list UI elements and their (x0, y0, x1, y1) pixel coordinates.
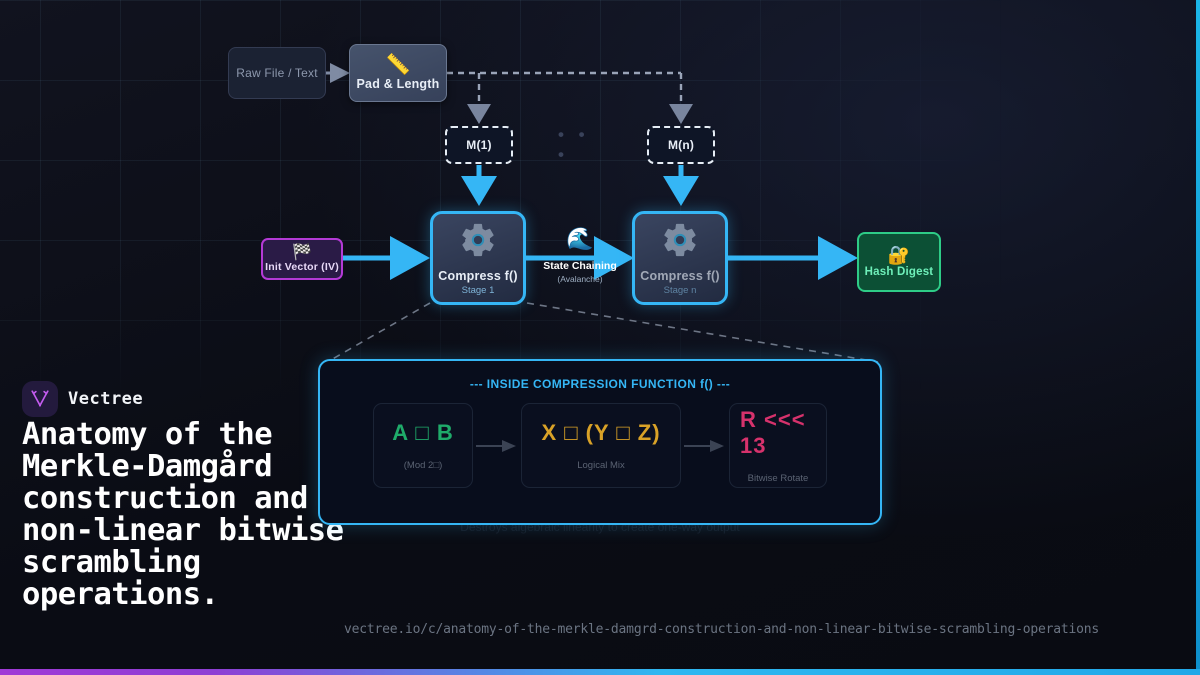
panel-title: --- INSIDE COMPRESSION FUNCTION f() --- (320, 377, 880, 391)
gear-icon (458, 220, 498, 265)
compress-stage-1-label: Compress f() (438, 269, 518, 283)
arrow-icon (681, 440, 729, 452)
compress-stage-n-label: Compress f() (640, 269, 720, 283)
node-message-block-last[interactable]: M(n) (647, 126, 715, 164)
state-chaining-label: State Chaining (543, 260, 617, 272)
wave-icon: 🌊 (566, 228, 593, 250)
node-compress-stage-1[interactable]: Compress f() Stage 1 (430, 211, 526, 305)
bottom-accent-bar (0, 669, 1200, 675)
operation-bitwise-rotate[interactable]: R <<< 13 Bitwise Rotate (729, 403, 827, 488)
page-title: Anatomy of the Merkle-Damgård constructi… (22, 419, 352, 611)
operation-caption: Logical Mix (577, 460, 625, 471)
node-raw-file[interactable]: Raw File / Text (228, 47, 326, 99)
message-blocks-ellipsis: • • • (558, 136, 604, 154)
compress-stage-1-sub: Stage 1 (462, 285, 495, 296)
node-init-vector[interactable]: 🏁 Init Vector (IV) (261, 238, 343, 280)
operation-modular-add[interactable]: A □ B (Mod 2□) (373, 403, 473, 488)
operation-formula: A □ B (392, 420, 453, 446)
page-url: vectree.io/c/anatomy-of-the-merkle-damgr… (344, 622, 1099, 637)
init-vector-label: Init Vector (IV) (265, 261, 339, 273)
brand-block: Vectree (22, 381, 143, 417)
hash-digest-label: Hash Digest (865, 266, 934, 278)
message-block-last-label: M(n) (668, 138, 694, 152)
compress-stage-n-sub: Stage n (664, 285, 697, 296)
raw-file-label: Raw File / Text (236, 66, 317, 80)
node-pad-and-length[interactable]: 📏 Pad & Length (349, 44, 447, 102)
node-hash-digest[interactable]: 🔐 Hash Digest (857, 232, 941, 292)
label-state-chaining: 🌊 State Chaining (Avalanche) (540, 228, 620, 284)
compression-function-panel: --- INSIDE COMPRESSION FUNCTION f() --- … (318, 359, 882, 525)
lock-with-key-icon: 🔐 (888, 246, 910, 264)
operation-formula: X □ (Y □ Z) (541, 420, 660, 446)
slide-canvas: Raw File / Text 📏 Pad & Length M(1) • • … (0, 0, 1200, 675)
node-message-block-first[interactable]: M(1) (445, 126, 513, 164)
arrow-icon (473, 440, 521, 452)
right-accent-edge (1196, 0, 1200, 675)
ruler-icon: 📏 (386, 55, 411, 75)
checkered-flag-icon: 🏁 (292, 245, 312, 261)
operation-caption: (Mod 2□) (404, 460, 442, 471)
node-compress-stage-n[interactable]: Compress f() Stage n (632, 211, 728, 305)
pad-length-label: Pad & Length (357, 77, 440, 91)
brand-name: Vectree (68, 389, 143, 409)
gear-icon (660, 220, 700, 265)
state-chaining-sub: (Avalanche) (557, 274, 602, 284)
message-block-first-label: M(1) (466, 138, 491, 152)
operation-caption: Bitwise Rotate (748, 473, 809, 484)
operation-formula: R <<< 13 (740, 407, 816, 459)
operations-row: A □ B (Mod 2□) X □ (Y □ Z) Logical Mix (320, 403, 880, 488)
operation-logical-mix[interactable]: X □ (Y □ Z) Logical Mix (521, 403, 681, 488)
vectree-logo-icon (22, 381, 58, 417)
